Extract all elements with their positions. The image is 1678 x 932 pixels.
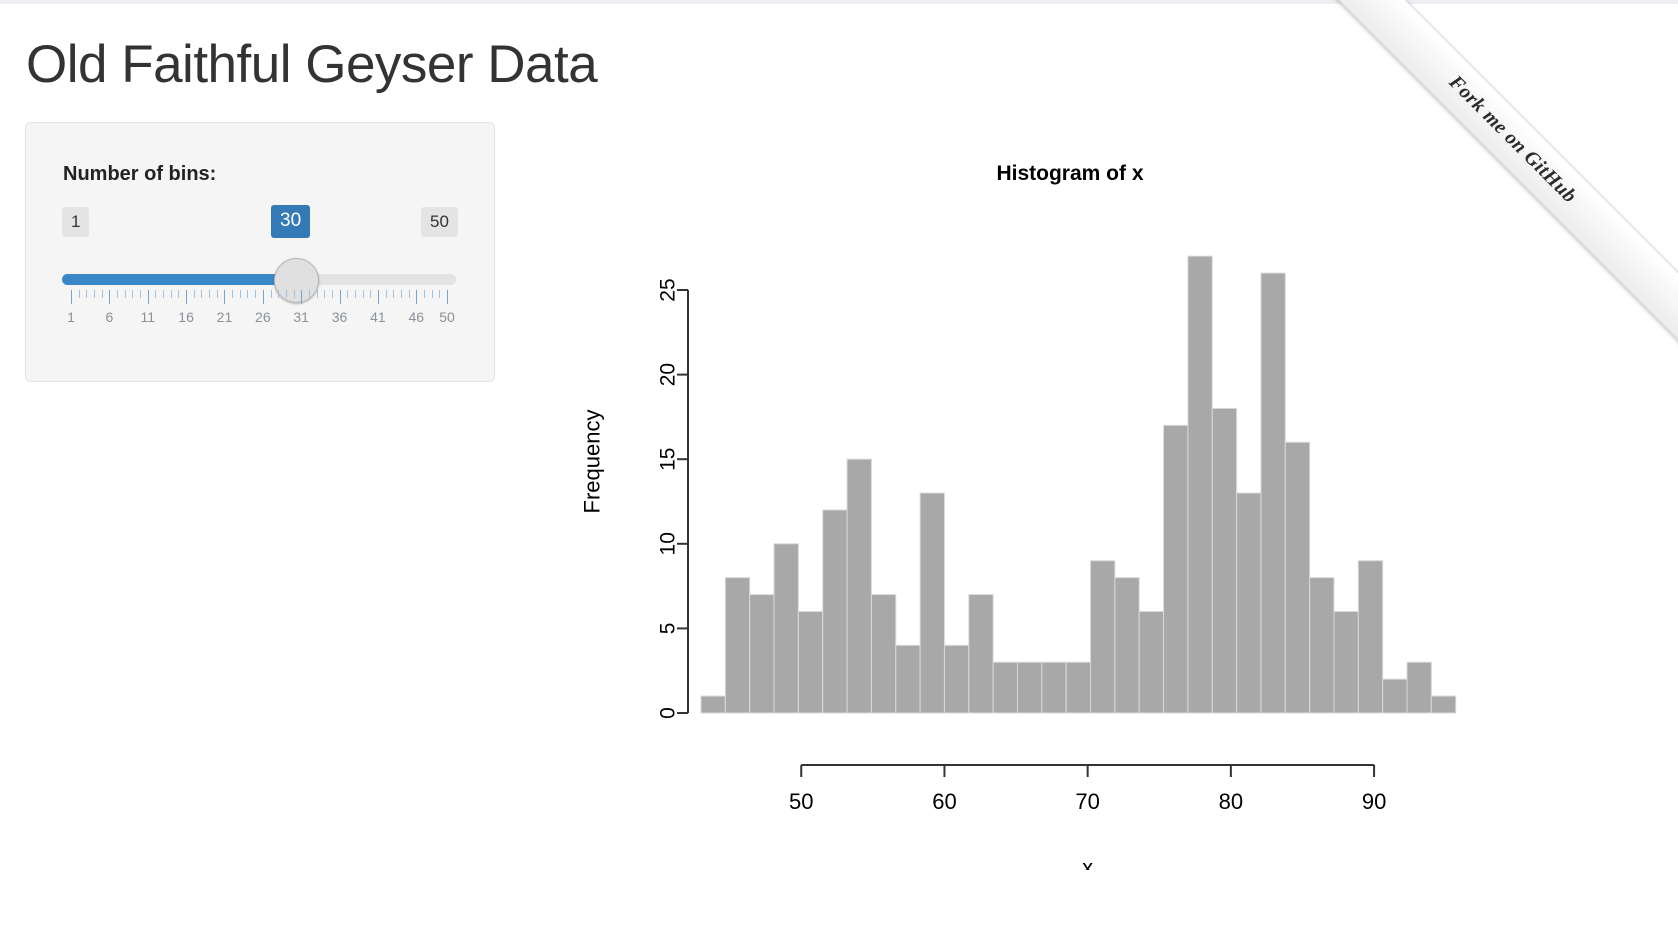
slider-tick-label: 21 <box>217 309 233 325</box>
x-axis-tick-label: 80 <box>1219 789 1243 814</box>
slider-ticks <box>62 290 456 306</box>
slider-tick <box>271 290 272 298</box>
slider-tick <box>232 290 233 298</box>
histogram-bar <box>725 578 749 713</box>
slider-tick <box>332 290 333 298</box>
slider-tick <box>278 290 279 298</box>
histogram-plot: Histogram of x 0510152025Frequency506070… <box>540 140 1600 870</box>
slider-tick-label: 31 <box>293 309 309 325</box>
slider-tick <box>163 290 164 298</box>
slider-tick <box>209 290 210 298</box>
histogram-bar <box>1310 578 1334 713</box>
slider-tick <box>324 290 325 298</box>
slider-tick <box>86 290 87 298</box>
slider-tick <box>94 290 95 298</box>
histogram-bar <box>1188 256 1212 713</box>
slider-tick <box>347 290 348 298</box>
slider-tick <box>317 290 318 298</box>
slider-tick <box>255 290 256 298</box>
histogram-bar <box>774 544 798 713</box>
histogram-bar <box>920 493 944 713</box>
slider-current-value: 30 <box>271 205 310 238</box>
histogram-bar <box>1066 662 1090 713</box>
histogram-bar <box>1431 696 1455 713</box>
slider-tick <box>370 290 371 298</box>
slider-tick <box>224 290 225 304</box>
slider-tick <box>401 290 402 298</box>
histogram-bar <box>823 510 847 713</box>
histogram-bar <box>750 595 774 713</box>
slider-tick-label: 6 <box>105 309 113 325</box>
histogram-bar <box>1285 442 1309 713</box>
slider-tick <box>340 290 341 304</box>
slider-max-value: 50 <box>421 207 458 237</box>
slider-tick <box>201 290 202 298</box>
slider-tick <box>217 290 218 298</box>
histogram-bar <box>1383 679 1407 713</box>
y-axis-tick-label: 10 <box>657 532 680 555</box>
slider-tick <box>355 290 356 298</box>
slider-tick <box>247 290 248 298</box>
histogram-bar <box>1407 662 1431 713</box>
slider-tick <box>148 290 149 304</box>
slider-tick <box>363 290 364 298</box>
slider-tick <box>286 290 287 298</box>
histogram-bar <box>896 645 920 713</box>
histogram-bar <box>969 595 993 713</box>
histogram-bar <box>1139 611 1163 713</box>
histogram-bar <box>1115 578 1139 713</box>
histogram-bar <box>944 645 968 713</box>
slider-min-value: 1 <box>62 207 89 237</box>
histogram-bar <box>1091 561 1115 713</box>
slider-tick <box>240 290 241 298</box>
histogram-bar <box>1358 561 1382 713</box>
histogram-bar <box>1212 408 1236 713</box>
slider-tick-label: 16 <box>178 309 194 325</box>
slider-tick <box>378 290 379 304</box>
app-root: Old Faithful Geyser Data Fork me on GitH… <box>0 0 1678 932</box>
slider-tick-labels: 16111621263136414650 <box>62 309 456 329</box>
slider-tick-label: 26 <box>255 309 271 325</box>
x-axis-tick-label: 90 <box>1362 789 1386 814</box>
histogram-bar <box>847 459 871 713</box>
chart-canvas: 0510152025Frequency5060708090x <box>540 140 1600 870</box>
slider-tick-label: 1 <box>67 309 75 325</box>
slider-tick <box>155 290 156 298</box>
x-axis-tick-label: 60 <box>932 789 956 814</box>
slider-tick <box>178 290 179 298</box>
histogram-bar <box>1017 662 1041 713</box>
x-axis-tick-label: 70 <box>1075 789 1099 814</box>
slider-tick <box>294 290 295 298</box>
y-axis-tick-label: 15 <box>657 448 680 471</box>
slider-tick <box>424 290 425 298</box>
x-axis-title: x <box>1082 855 1093 870</box>
slider-tick <box>140 290 141 298</box>
slider-tick-label: 50 <box>439 309 455 325</box>
slider-track-fill <box>62 274 294 285</box>
sidebar-panel: Number of bins: 1 30 50 1611162126313641… <box>25 122 495 382</box>
slider-tick <box>171 290 172 298</box>
y-axis-tick-label: 5 <box>657 623 680 635</box>
bins-slider-label: Number of bins: <box>63 163 216 186</box>
y-axis-tick-label: 25 <box>657 278 680 301</box>
slider-tick <box>125 290 126 298</box>
slider-tick <box>186 290 187 304</box>
slider-tick-label: 11 <box>140 309 155 325</box>
slider-tick <box>263 290 264 304</box>
slider-tick <box>301 290 302 304</box>
y-axis-tick-label: 0 <box>657 707 680 719</box>
slider-tick <box>447 290 448 304</box>
slider-tick <box>393 290 394 298</box>
bins-slider[interactable] <box>62 268 456 290</box>
slider-tick <box>117 290 118 298</box>
y-axis-title: Frequency <box>580 410 605 514</box>
slider-tick <box>71 290 72 304</box>
histogram-bar <box>993 662 1017 713</box>
slider-tick <box>309 290 310 298</box>
slider-tick-label: 36 <box>332 309 348 325</box>
slider-tick <box>439 290 440 298</box>
histogram-bar <box>798 611 822 713</box>
slider-tick <box>386 290 387 298</box>
histogram-bars <box>701 256 1456 713</box>
histogram-bar <box>701 696 725 713</box>
histogram-bar <box>1042 662 1066 713</box>
slider-tick <box>416 290 417 304</box>
slider-tick <box>432 290 433 298</box>
slider-tick-label: 46 <box>409 309 425 325</box>
histogram-bar <box>1261 273 1285 713</box>
histogram-bar <box>1164 425 1188 713</box>
page-title: Old Faithful Geyser Data <box>26 34 597 96</box>
x-axis-tick-label: 50 <box>789 789 813 814</box>
slider-tick <box>79 290 80 298</box>
y-axis-tick-label: 20 <box>657 363 680 386</box>
slider-tick-label: 41 <box>370 309 386 325</box>
histogram-bar <box>1334 611 1358 713</box>
histogram-bar <box>1237 493 1261 713</box>
histogram-bar <box>871 595 895 713</box>
slider-tick <box>102 290 103 298</box>
slider-tick <box>194 290 195 298</box>
slider-tick <box>109 290 110 304</box>
slider-tick <box>409 290 410 298</box>
slider-tick <box>132 290 133 298</box>
